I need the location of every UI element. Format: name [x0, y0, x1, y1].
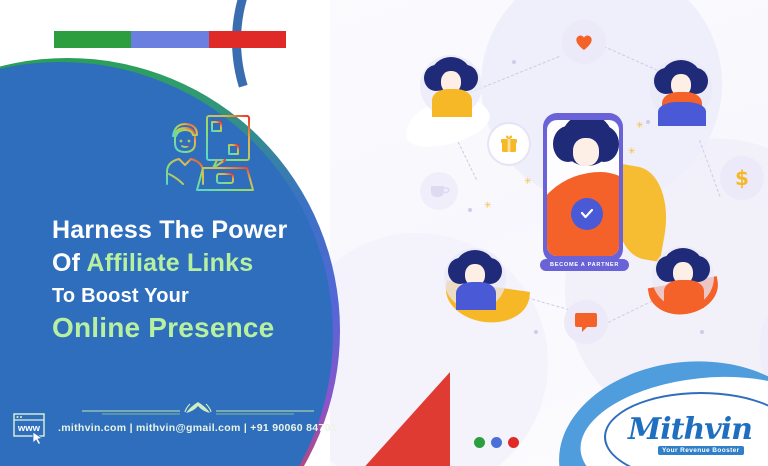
- contact-text: .mithvin.com | mithvin@gmail.com | +91 9…: [58, 422, 337, 434]
- decor-dot: [534, 330, 538, 334]
- decor-dot: [646, 120, 650, 124]
- heart-icon: [562, 20, 606, 64]
- avatar: [444, 248, 506, 310]
- avatar-shirt: [456, 282, 496, 310]
- sparkle-decor: ✳: [484, 200, 492, 211]
- smartphone-illustration: [543, 113, 623, 263]
- contact-footer: www .mithvin.com | mithvin@gmail.com | +…: [12, 412, 337, 444]
- dollar-icon: $: [720, 156, 764, 200]
- www-browser-icon: www: [12, 412, 52, 444]
- check-badge-icon: [571, 198, 603, 230]
- tricolor-segment-green: [54, 31, 131, 48]
- headline-line-2: Of Affiliate Links: [52, 247, 352, 280]
- tricolor-segment-red: [209, 31, 286, 48]
- decor-dot: [700, 330, 704, 334]
- tricolor-dots: [474, 437, 519, 448]
- decor-dot: [468, 208, 472, 212]
- headline-line-4: Online Presence: [52, 309, 352, 346]
- sparkle-decor: ✳: [636, 120, 644, 131]
- dot-green: [474, 437, 485, 448]
- phone-person-face: [573, 138, 599, 166]
- brand-tagline: Your Revenue Booster: [658, 446, 744, 455]
- headline-line-2-prefix: Of: [52, 249, 86, 277]
- avatar: [652, 246, 714, 308]
- headline-line-3: To Boost Your: [52, 283, 352, 310]
- dot-red: [508, 437, 519, 448]
- avatar-body: [658, 102, 706, 126]
- svg-text:www: www: [17, 423, 41, 434]
- sparkle-decor: ✳: [628, 146, 636, 157]
- headline-line-1: Harness The Power: [52, 214, 352, 247]
- person-at-laptop-with-article-icon: [155, 112, 255, 196]
- phone-screen: [547, 120, 619, 256]
- avatar: [650, 58, 712, 120]
- marketing-banner: ✳ ✳ ✳ ✳ ✳: [0, 0, 768, 466]
- brand-name: Mithvin: [628, 415, 752, 445]
- tricolor-segment-blue: [131, 31, 208, 48]
- avatar-shirt: [664, 280, 704, 308]
- tricolor-bar: [54, 31, 286, 48]
- sparkle-decor: ✳: [524, 176, 532, 187]
- chat-bubble-icon: [564, 300, 608, 344]
- brand-logo: Mithvin Your Revenue Booster: [628, 404, 768, 466]
- svg-text:$: $: [735, 166, 749, 190]
- headline-line-2-accent: Affiliate Links: [86, 249, 253, 277]
- become-a-partner-button[interactable]: BECOME A PARTNER: [540, 259, 629, 271]
- page-title: Harness The Power Of Affiliate Links To …: [52, 214, 352, 346]
- dot-blue: [491, 437, 502, 448]
